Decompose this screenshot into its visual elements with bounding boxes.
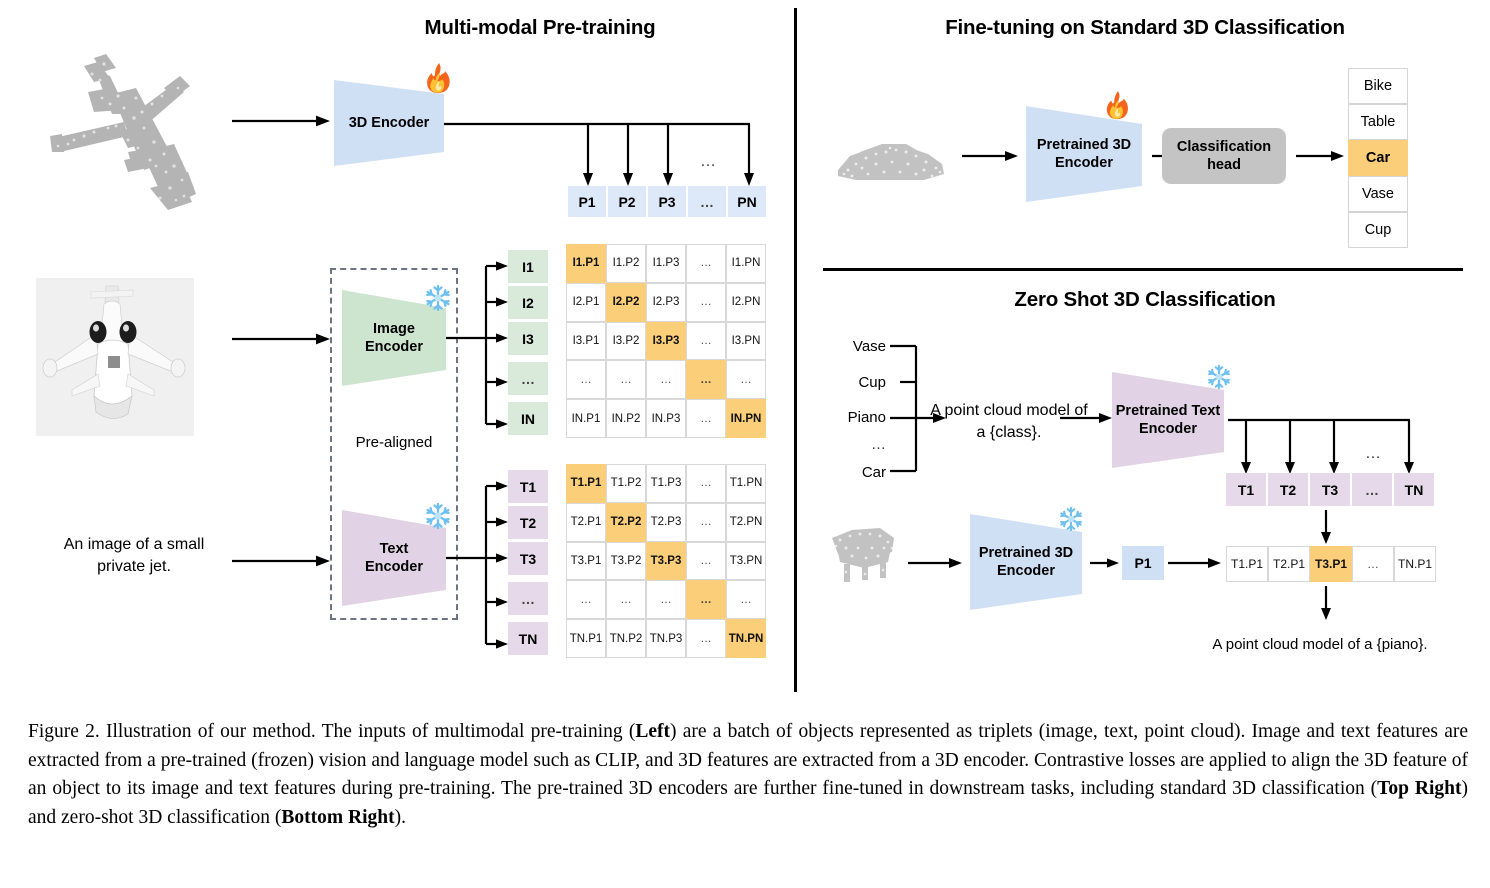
- i-token-2[interactable]: I3: [508, 322, 548, 355]
- image-matrix-cell: I3.P1: [566, 322, 606, 361]
- text-point-similarity-matrix: T1.P1T1.P2T1.P3…T1.PNT2.P1T2.P2T2.P3…T2.…: [566, 464, 766, 658]
- p-token-label: P1: [578, 194, 595, 210]
- score-cell: …: [1352, 546, 1394, 582]
- text-matrix-cell: T3.PN: [726, 542, 766, 581]
- image-matrix-cell: IN.P1: [566, 399, 606, 438]
- text-matrix-cell: TN.P2: [606, 619, 646, 658]
- image-matrix-cell: I1.P1: [566, 244, 606, 283]
- class-list-item[interactable]: Car: [1348, 140, 1408, 176]
- pretrained-text-encoder-label: Pretrained Text Encoder: [1116, 402, 1221, 438]
- text-matrix-cell: …: [606, 580, 646, 619]
- zs-t-token-4[interactable]: TN: [1394, 473, 1434, 506]
- zs-t-token-2[interactable]: T3: [1310, 473, 1350, 506]
- image-matrix-cell: I2.P3: [646, 283, 686, 322]
- arrow-p1-to-score-row: [1168, 556, 1222, 570]
- image-matrix-cell: IN.P3: [646, 399, 686, 438]
- image-matrix-cell: …: [566, 360, 606, 399]
- caption-text: ).: [395, 807, 406, 828]
- class-list-item[interactable]: Table: [1348, 104, 1408, 140]
- panel-horizontal-divider: [823, 268, 1463, 271]
- zs-class-1[interactable]: Cup: [826, 374, 886, 391]
- panel-vertical-divider: [794, 8, 797, 692]
- t-token-0[interactable]: T1: [508, 470, 548, 503]
- text-matrix-cell: T3.P2: [606, 542, 646, 581]
- image-matrix-cell: I1.P3: [646, 244, 686, 283]
- class-list-item[interactable]: Vase: [1348, 176, 1408, 212]
- pretrained-3d-encoder-finetune-label: Pretrained 3D Encoder: [1037, 136, 1131, 172]
- fire-icon: [424, 62, 454, 96]
- zs-t-token-label: TN: [1405, 482, 1424, 498]
- classification-head[interactable]: Classification head: [1162, 128, 1286, 184]
- p-token-label: PN: [737, 194, 756, 210]
- snowflake-icon: [1058, 506, 1084, 532]
- text-matrix-cell: T2.P1: [566, 503, 606, 542]
- t-token-label: TN: [519, 631, 538, 647]
- text-matrix-cell: TN.P1: [566, 619, 606, 658]
- i-token-label: IN: [521, 411, 535, 427]
- image-matrix-cell: I2.P1: [566, 283, 606, 322]
- t-token-4[interactable]: TN: [508, 622, 548, 655]
- fire-icon: [1104, 90, 1132, 122]
- zero-shot-result: A point cloud model of a {piano}.: [1160, 636, 1480, 653]
- figure-caption: Figure 2. Illustration of our method. Th…: [28, 718, 1468, 833]
- p-token-0[interactable]: P1: [568, 186, 606, 217]
- text-matrix-cell: TN.P3: [646, 619, 686, 658]
- pre-aligned-label: Pre-aligned: [330, 434, 458, 451]
- text-matrix-cell: T3.P3: [646, 542, 686, 581]
- i-token-label: …: [521, 371, 535, 387]
- zs-class-2[interactable]: Piano: [822, 409, 886, 426]
- image-matrix-cell: …: [686, 283, 726, 322]
- p-token-4[interactable]: PN: [728, 186, 766, 217]
- image-matrix-cell: …: [686, 244, 726, 283]
- score-cell: T3.P1: [1310, 546, 1352, 582]
- image-matrix-cell: …: [686, 399, 726, 438]
- arrow-car-to-encoder: [962, 149, 1020, 163]
- t-token-label: T1: [520, 479, 536, 495]
- encoder-3d-label: 3D Encoder: [349, 114, 430, 132]
- arrow-t-tokens-to-score-row: [1318, 510, 1334, 546]
- t-token-3[interactable]: …: [508, 582, 548, 615]
- image-matrix-cell: I2.PN: [726, 283, 766, 322]
- top-right-panel-title: Fine-tuning on Standard 3D Classificatio…: [820, 16, 1470, 40]
- text-matrix-cell: …: [686, 619, 726, 658]
- image-matrix-cell: …: [726, 360, 766, 399]
- zs-t-token-0[interactable]: T1: [1226, 473, 1266, 506]
- arrow-score-to-result: [1318, 586, 1334, 622]
- p-token-1[interactable]: P2: [608, 186, 646, 217]
- text-matrix-cell: T1.P2: [606, 464, 646, 503]
- encoder-text-label: Text Encoder: [365, 540, 423, 576]
- left-panel-title: Multi-modal Pre-training: [280, 16, 800, 40]
- t-token-2[interactable]: T3: [508, 542, 548, 575]
- bus-3d-to-p-tokens: …: [444, 118, 774, 190]
- image-matrix-cell: I1.PN: [726, 244, 766, 283]
- svg-text:…: …: [700, 153, 716, 170]
- snowflake-icon: [1206, 364, 1232, 390]
- image-point-similarity-matrix: I1.P1I1.P2I1.P3…I1.PNI2.P1I2.P2I2.P3…I2.…: [566, 244, 766, 438]
- class-list-item[interactable]: Bike: [1348, 68, 1408, 104]
- arrow-text-to-text-encoder: [232, 554, 332, 568]
- image-matrix-cell: I2.P2: [606, 283, 646, 322]
- p-token-label: …: [700, 194, 714, 210]
- i-token-4[interactable]: IN: [508, 402, 548, 435]
- image-matrix-cell: I3.P2: [606, 322, 646, 361]
- zs-class-3: …: [826, 436, 886, 453]
- text-matrix-cell: T3.P1: [566, 542, 606, 581]
- t-token-label: T2: [520, 515, 536, 531]
- i-token-label: I3: [522, 331, 534, 347]
- caption-text: Figure 2. Illustration of our method. Th…: [28, 721, 635, 742]
- text-prompt: An image of a small private jet.: [24, 534, 244, 577]
- zs-t-token-1[interactable]: T2: [1268, 473, 1308, 506]
- arrow-image-to-image-encoder: [232, 332, 332, 346]
- text-matrix-cell: …: [726, 580, 766, 619]
- bus-text-encoder-to-zs-t-tokens: …: [1228, 414, 1428, 480]
- t-token-label: …: [521, 591, 535, 607]
- image-matrix-cell: …: [686, 322, 726, 361]
- zs-class-4[interactable]: Car: [826, 464, 886, 481]
- car-point-cloud: [832, 130, 950, 190]
- classification-class-list: BikeTableCarVaseCup: [1348, 68, 1408, 248]
- text-matrix-cell: …: [686, 503, 726, 542]
- text-matrix-cell: …: [566, 580, 606, 619]
- zs-t-token-label: …: [1365, 482, 1379, 498]
- text-matrix-cell: …: [686, 580, 726, 619]
- i-token-label: I1: [522, 259, 534, 275]
- text-matrix-cell: T1.P1: [566, 464, 606, 503]
- text-matrix-cell: TN.PN: [726, 619, 766, 658]
- image-matrix-cell: …: [646, 360, 686, 399]
- arrow-piano-to-3d-encoder: [908, 556, 964, 570]
- p-token-2[interactable]: P3: [648, 186, 686, 217]
- class-list-item[interactable]: Cup: [1348, 212, 1408, 248]
- image-matrix-cell: I1.P2: [606, 244, 646, 283]
- i-token-0[interactable]: I1: [508, 250, 548, 283]
- arrow-pointcloud-to-3d-encoder: [232, 114, 332, 128]
- t-token-1[interactable]: T2: [508, 506, 548, 539]
- arrow-3d-encoder-to-p1: [1090, 556, 1120, 570]
- p-token-label: P2: [618, 194, 635, 210]
- text-matrix-cell: T2.P3: [646, 503, 686, 542]
- caption-emphasis: Top Right: [1377, 778, 1461, 799]
- image-matrix-cell: …: [686, 360, 726, 399]
- svg-text:…: …: [1365, 445, 1381, 462]
- zs-p-token-label: P1: [1134, 555, 1151, 571]
- zs-t-token-label: T2: [1280, 482, 1296, 498]
- score-cell: TN.P1: [1394, 546, 1436, 582]
- i-token-3[interactable]: …: [508, 362, 548, 395]
- zs-t-token-label: T3: [1322, 482, 1338, 498]
- text-matrix-cell: …: [686, 542, 726, 581]
- caption-emphasis: Bottom Right: [281, 807, 394, 828]
- i-token-1[interactable]: I2: [508, 286, 548, 319]
- zs-t-token-3[interactable]: …: [1352, 473, 1392, 506]
- image-matrix-cell: IN.PN: [726, 399, 766, 438]
- text-matrix-cell: T1.PN: [726, 464, 766, 503]
- classification-head-label: Classification head: [1177, 138, 1271, 174]
- zero-shot-score-row: T1.P1T2.P1T3.P1…TN.P1: [1226, 546, 1436, 582]
- caption-emphasis: Left: [635, 721, 670, 742]
- p-token-3[interactable]: …: [688, 186, 726, 217]
- image-matrix-cell: …: [606, 360, 646, 399]
- text-matrix-cell: …: [646, 580, 686, 619]
- t-token-label: T3: [520, 551, 536, 567]
- image-matrix-cell: I3.P3: [646, 322, 686, 361]
- zs-class-0[interactable]: Vase: [826, 338, 886, 355]
- zs-p-token[interactable]: P1: [1122, 546, 1164, 580]
- arrow-head-to-classes: [1296, 149, 1346, 163]
- text-matrix-cell: T2.PN: [726, 503, 766, 542]
- arrow-prompt-to-text-encoder: [1060, 411, 1114, 425]
- p-token-label: P3: [658, 194, 675, 210]
- bottom-right-panel-title: Zero Shot 3D Classification: [820, 288, 1470, 312]
- bus-image-encoder-to-i-tokens: [446, 258, 512, 438]
- score-cell: T1.P1: [1226, 546, 1268, 582]
- airplane-point-cloud: [24, 48, 239, 223]
- image-matrix-cell: IN.P2: [606, 399, 646, 438]
- piano-point-cloud: [828, 524, 900, 586]
- bus-text-encoder-to-t-tokens: [446, 478, 512, 658]
- zs-t-token-label: T1: [1238, 482, 1254, 498]
- i-token-label: I2: [522, 295, 534, 311]
- figure-canvas: Multi-modal Pre-training Fine-tuning on …: [0, 0, 1490, 888]
- text-matrix-cell: T1.P3: [646, 464, 686, 503]
- encoder-image-label: Image Encoder: [365, 320, 423, 356]
- image-matrix-cell: I3.PN: [726, 322, 766, 361]
- text-matrix-cell: T2.P2: [606, 503, 646, 542]
- pretrained-3d-encoder-zeroshot-label: Pretrained 3D Encoder: [979, 544, 1073, 580]
- text-matrix-cell: …: [686, 464, 726, 503]
- score-cell: T2.P1: [1268, 546, 1310, 582]
- airplane-render-image: [36, 278, 194, 436]
